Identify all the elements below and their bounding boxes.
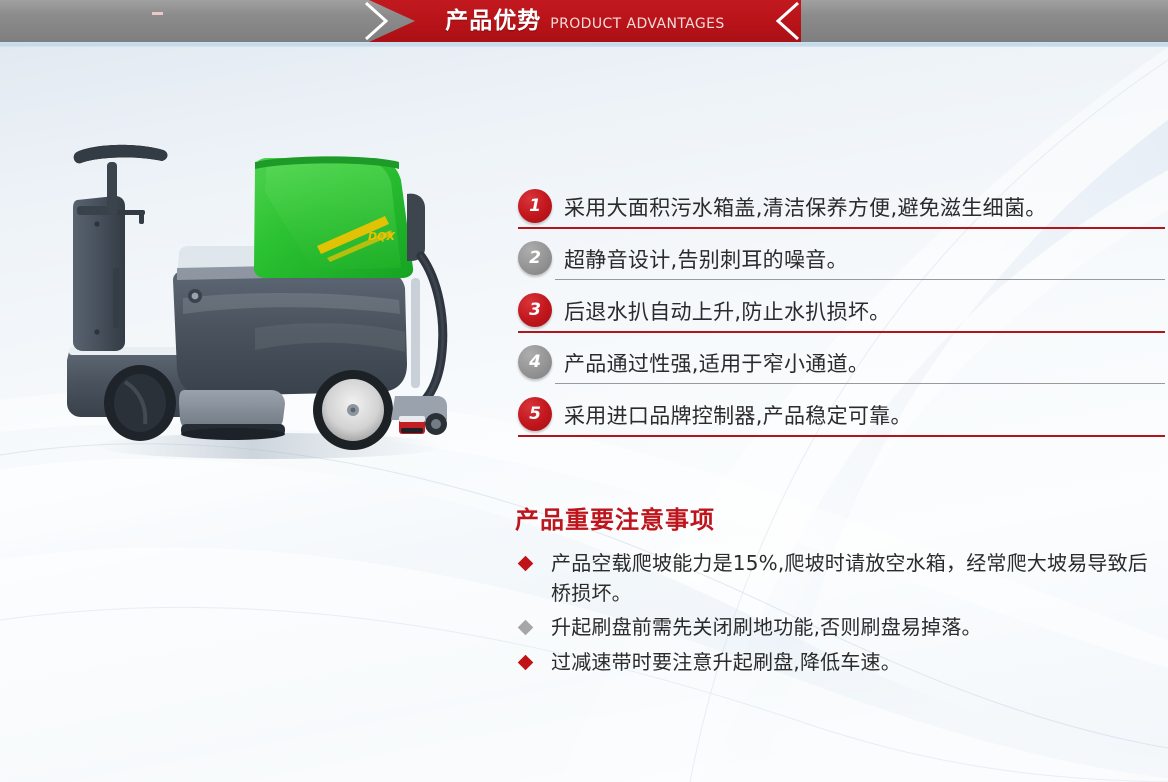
diamond-bullet-icon <box>518 655 534 671</box>
feature-divider <box>555 383 1165 384</box>
notice-item: 产品空载爬坡能力是15%,爬坡时请放空水箱，经常爬大坡易导致后桥损坏。 <box>515 549 1165 608</box>
notice-heading: 产品重要注意事项 <box>515 500 1165 535</box>
notice-item-text: 升起刷盘前需先关闭刷地功能,否则刷盘易掉落。 <box>551 615 982 639</box>
diamond-bullet-icon <box>518 620 534 636</box>
feature-item-4: 4 产品通过性强,适用于窄小通道。 <box>515 342 1155 394</box>
feature-divider <box>518 435 1165 437</box>
feature-text: 采用进口品牌控制器,产品稳定可靠。 <box>564 394 912 435</box>
feature-item-3: 3 后退水扒自动上升,防止水扒损坏。 <box>515 290 1155 342</box>
notice-section: 产品重要注意事项 产品空载爬坡能力是15%,爬坡时请放空水箱，经常爬大坡易导致后… <box>515 500 1165 682</box>
feature-number-badge: 1 <box>518 189 552 223</box>
feature-divider <box>555 279 1165 280</box>
feature-item-2: 2 超静音设计,告别刺耳的噪音。 <box>515 238 1155 290</box>
diamond-bullet-icon <box>518 556 534 572</box>
product-photo-floor-scrubber: DQX <box>55 128 475 468</box>
feature-item-1: 1 采用大面积污水箱盖,清洁保养方便,避免滋生细菌。 <box>515 186 1155 238</box>
notice-item-text: 产品空载爬坡能力是15%,爬坡时请放空水箱，经常爬大坡易导致后桥损坏。 <box>551 551 1148 605</box>
chevron-left-icon <box>762 0 804 42</box>
feature-number-badge: 5 <box>518 397 552 431</box>
header-band-underline <box>0 42 1168 47</box>
feature-text: 超静音设计,告别刺耳的噪音。 <box>564 238 848 279</box>
notice-item-text: 过减速带时要注意升起刷盘,降低车速。 <box>551 650 901 674</box>
header-title-group: 产品优势 PRODUCT ADVANTAGES <box>415 0 755 42</box>
title-dash-decoration <box>152 12 163 15</box>
chevron-right-icon <box>360 0 402 42</box>
page-title-cn: 产品优势 <box>445 10 541 33</box>
feature-number-badge: 2 <box>518 241 552 275</box>
feature-item-5: 5 采用进口品牌控制器,产品稳定可靠。 <box>515 394 1155 446</box>
feature-text: 后退水扒自动上升,防止水扒损坏。 <box>564 290 890 331</box>
advertisement-page: 产品优势 PRODUCT ADVANTAGES <box>0 0 1168 782</box>
feature-divider <box>518 331 1165 333</box>
feature-text: 产品通过性强,适用于窄小通道。 <box>564 342 869 383</box>
notice-item: 升起刷盘前需先关闭刷地功能,否则刷盘易掉落。 <box>515 613 1165 643</box>
feature-number-badge: 4 <box>518 345 552 379</box>
feature-number-badge: 3 <box>518 293 552 327</box>
page-title-en: PRODUCT ADVANTAGES <box>550 17 724 31</box>
feature-text: 采用大面积污水箱盖,清洁保养方便,避免滋生细菌。 <box>564 186 1047 227</box>
feature-divider <box>518 227 1165 229</box>
feature-list: 1 采用大面积污水箱盖,清洁保养方便,避免滋生细菌。 2 超静音设计,告别刺耳的… <box>515 186 1155 446</box>
notice-item: 过减速带时要注意升起刷盘,降低车速。 <box>515 648 1165 678</box>
svg-text:DQX: DQX <box>368 230 395 243</box>
